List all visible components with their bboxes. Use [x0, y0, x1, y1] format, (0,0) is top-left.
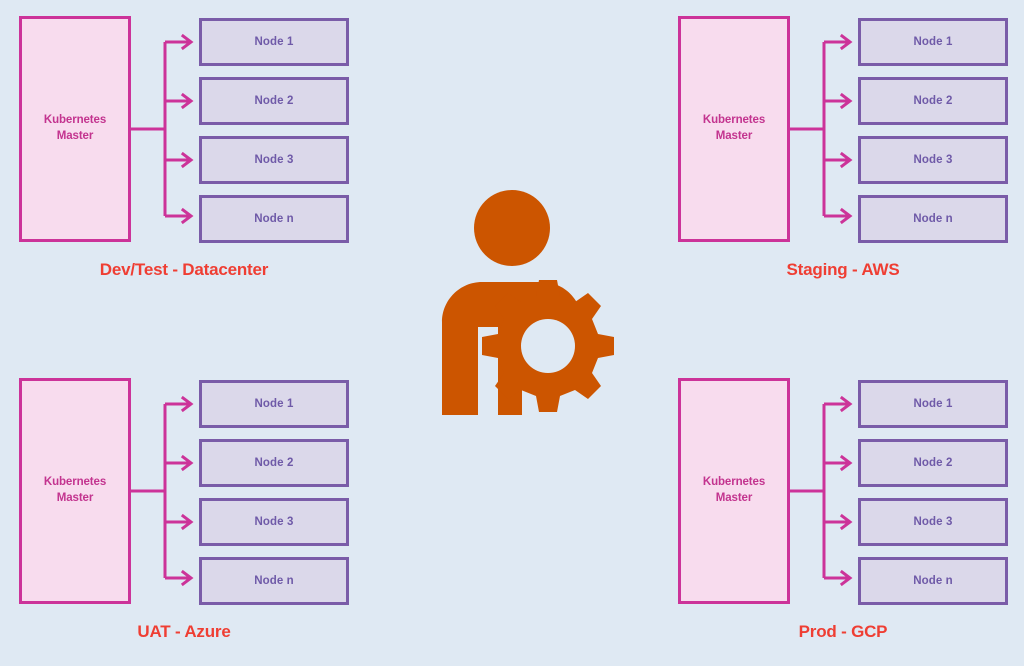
node-label: Node 2: [255, 95, 294, 107]
node-box[interactable]: Node 3: [199, 136, 349, 184]
kubernetes-master-box[interactable]: Kubernetes Master: [19, 16, 131, 242]
node-list: Node 1 Node 2 Node 3 Node n: [199, 380, 349, 605]
node-label: Node 2: [914, 457, 953, 469]
master-line-1: Kubernetes: [44, 476, 106, 488]
master-to-nodes-connector: [129, 378, 205, 610]
cluster-caption: UAT - Azure: [19, 622, 349, 642]
master-line-2: Master: [57, 492, 93, 504]
gear-hole: [521, 319, 575, 373]
node-label: Node 3: [914, 154, 953, 166]
node-label: Node 2: [914, 95, 953, 107]
master-line-2: Master: [57, 130, 93, 142]
kubernetes-master-label: Kubernetes Master: [703, 113, 765, 144]
node-box[interactable]: Node 1: [199, 18, 349, 66]
cluster-caption: Prod - GCP: [678, 622, 1008, 642]
kubernetes-master-label: Kubernetes Master: [44, 475, 106, 506]
node-label: Node 2: [255, 457, 294, 469]
node-box[interactable]: Node 1: [858, 18, 1008, 66]
cluster-caption: Staging - AWS: [678, 260, 1008, 280]
node-box[interactable]: Node 1: [858, 380, 1008, 428]
node-label: Node n: [913, 213, 953, 225]
node-box[interactable]: Node 2: [858, 439, 1008, 487]
node-box[interactable]: Node 2: [199, 439, 349, 487]
kubernetes-master-box[interactable]: Kubernetes Master: [19, 378, 131, 604]
master-to-nodes-connector: [129, 16, 205, 248]
master-line-1: Kubernetes: [703, 476, 765, 488]
node-box[interactable]: Node 1: [199, 380, 349, 428]
user-gear-icon: [430, 190, 630, 415]
master-line-1: Kubernetes: [44, 114, 106, 126]
node-label: Node 1: [914, 398, 953, 410]
master-to-nodes-connector: [788, 16, 864, 248]
cluster-caption: Dev/Test - Datacenter: [19, 260, 349, 280]
diagram-canvas: Kubernetes Master Node 1: [0, 0, 1024, 660]
node-label: Node 3: [255, 154, 294, 166]
master-line-2: Master: [716, 130, 752, 142]
node-box[interactable]: Node 3: [858, 136, 1008, 184]
node-list: Node 1 Node 2 Node 3 Node n: [199, 18, 349, 243]
kubernetes-master-box[interactable]: Kubernetes Master: [678, 16, 790, 242]
person-head-icon: [474, 190, 550, 266]
node-box[interactable]: Node 3: [858, 498, 1008, 546]
node-label: Node 3: [255, 516, 294, 528]
node-label: Node n: [254, 575, 294, 587]
node-box[interactable]: Node 2: [199, 77, 349, 125]
master-line-1: Kubernetes: [703, 114, 765, 126]
node-label: Node n: [913, 575, 953, 587]
node-box[interactable]: Node n: [858, 557, 1008, 605]
node-list: Node 1 Node 2 Node 3 Node n: [858, 18, 1008, 243]
node-label: Node n: [254, 213, 294, 225]
node-label: Node 1: [914, 36, 953, 48]
node-box[interactable]: Node n: [858, 195, 1008, 243]
kubernetes-master-label: Kubernetes Master: [703, 475, 765, 506]
node-box[interactable]: Node 3: [199, 498, 349, 546]
node-box[interactable]: Node 2: [858, 77, 1008, 125]
node-label: Node 3: [914, 516, 953, 528]
node-box[interactable]: Node n: [199, 557, 349, 605]
cluster-dev-test-datacenter: Kubernetes Master Node 1: [19, 16, 349, 304]
cluster-prod-gcp: Kubernetes Master Node 1: [678, 378, 1008, 666]
gear-icon: [482, 280, 614, 412]
node-box[interactable]: Node n: [199, 195, 349, 243]
node-list: Node 1 Node 2 Node 3 Node n: [858, 380, 1008, 605]
kubernetes-master-label: Kubernetes Master: [44, 113, 106, 144]
cluster-staging-aws: Kubernetes Master Node 1: [678, 16, 1008, 304]
node-label: Node 1: [255, 398, 294, 410]
node-label: Node 1: [255, 36, 294, 48]
master-line-2: Master: [716, 492, 752, 504]
cluster-uat-azure: Kubernetes Master Node 1: [19, 378, 349, 666]
master-to-nodes-connector: [788, 378, 864, 610]
kubernetes-master-box[interactable]: Kubernetes Master: [678, 378, 790, 604]
